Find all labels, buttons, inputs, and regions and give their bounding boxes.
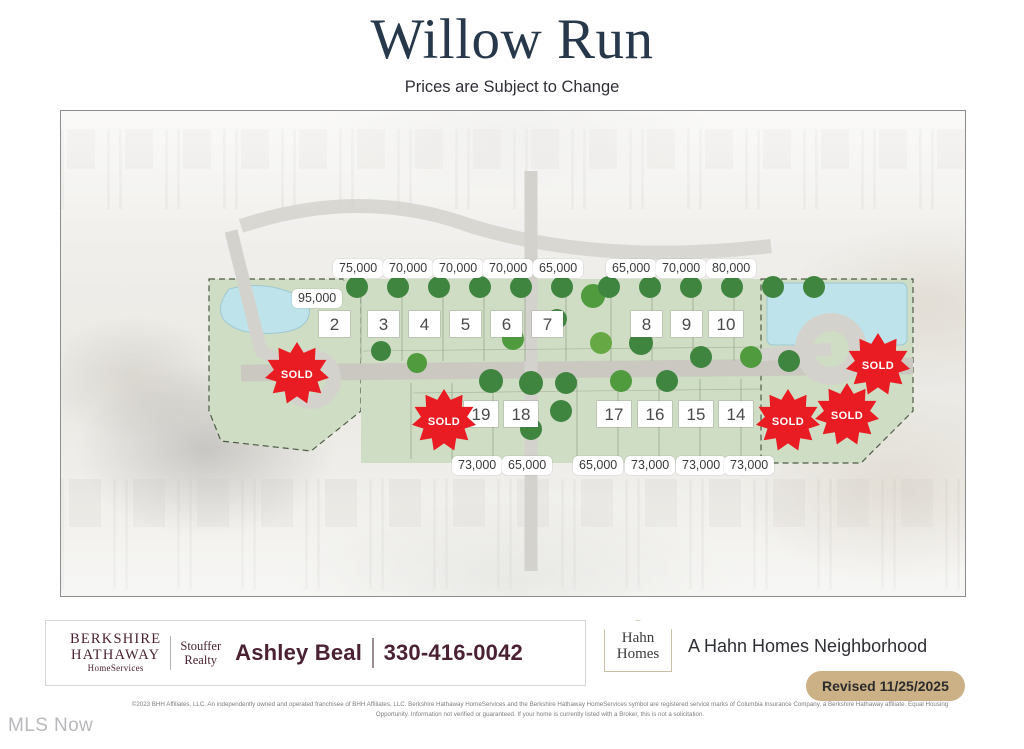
lot-number-box[interactable]: 4 [409,311,440,337]
agent-name: Ashley Beal [235,640,362,666]
mls-watermark: MLS Now [8,715,93,737]
lot-number-box[interactable]: 7 [532,311,563,337]
bhhs-line1: BERKSHIRE [70,632,161,648]
revised-date-badge: Revised 11/25/2025 [806,671,965,701]
lot-price-tag: 70,000 [383,259,433,278]
lot-number-box[interactable]: 14 [719,401,753,427]
sold-badge-label: SOLD [772,416,804,428]
lot-price-tag: 80,000 [706,259,756,278]
agent-phone-divider [372,638,374,668]
road-north-arc [241,206,771,253]
lot-price-tag: 73,000 [452,456,502,475]
builder-section: Hahn Homes A Hahn Homes Neighborhood [604,620,927,672]
lot-price-tag: 95,000 [292,289,342,308]
site-plan-map[interactable]: 95,00075,00070,00070,00070,00065,00065,0… [60,110,966,597]
sold-badge-label: SOLD [831,410,863,422]
hahn-logo-line1: Hahn [622,630,655,646]
lot-price-tag: 70,000 [656,259,706,278]
page-subtitle: Prices are Subject to Change [0,78,1024,97]
lot-price-tag: 65,000 [606,259,656,278]
lot-number-box[interactable]: 6 [491,311,522,337]
lot-number-box[interactable]: 18 [504,401,538,427]
logo-divider [170,636,171,670]
lot-price-tag: 73,000 [625,456,675,475]
plat-overlay [61,111,966,597]
lot-price-tag: 70,000 [433,259,483,278]
sold-badge-label: SOLD [428,416,460,428]
stouffer-line2: Realty [180,653,221,667]
lot-number-box[interactable]: 9 [671,311,702,337]
lot-price-tag: 65,000 [533,259,583,278]
lot-number-box[interactable]: 5 [450,311,481,337]
bhhs-line2: HATHAWAY [70,648,161,664]
lot-number-box[interactable]: 2 [319,311,350,337]
broker-card: BERKSHIRE HATHAWAY HomeServices Stouffer… [45,620,586,686]
lot-number-box[interactable]: 15 [679,401,713,427]
lot-price-tag: 65,000 [502,456,552,475]
stouffer-realty-label: Stouffer Realty [180,639,221,667]
lot-price-tag: 65,000 [573,456,623,475]
lot-number-box[interactable]: 8 [631,311,662,337]
plat-map-page: Willow Run Prices are Subject to Change [0,0,1024,749]
stouffer-line1: Stouffer [180,639,221,653]
lot-number-box[interactable]: 17 [597,401,631,427]
lot-number-box[interactable]: 16 [638,401,672,427]
berkshire-hathaway-logo: BERKSHIRE HATHAWAY HomeServices [70,632,161,674]
lot-number-box[interactable]: 10 [709,311,743,337]
builder-tagline: A Hahn Homes Neighborhood [688,636,927,657]
lot-price-tag: 73,000 [676,456,726,475]
hahn-logo-line2: Homes [617,646,660,662]
hahn-homes-logo: Hahn Homes [604,620,672,672]
lot-price-tag: 70,000 [483,259,533,278]
sold-badge-label: SOLD [281,369,313,381]
lot-price-tag: 73,000 [724,456,774,475]
agent-phone[interactable]: 330-416-0042 [384,640,523,666]
legal-disclaimer: ©2023 BHH Affiliates, LLC. An independen… [130,700,950,720]
sold-badge-label: SOLD [862,360,894,372]
lot-price-tag: 75,000 [333,259,383,278]
page-title: Willow Run [0,8,1024,72]
lot-number-box[interactable]: 3 [368,311,399,337]
bhhs-line3: HomeServices [70,664,161,674]
